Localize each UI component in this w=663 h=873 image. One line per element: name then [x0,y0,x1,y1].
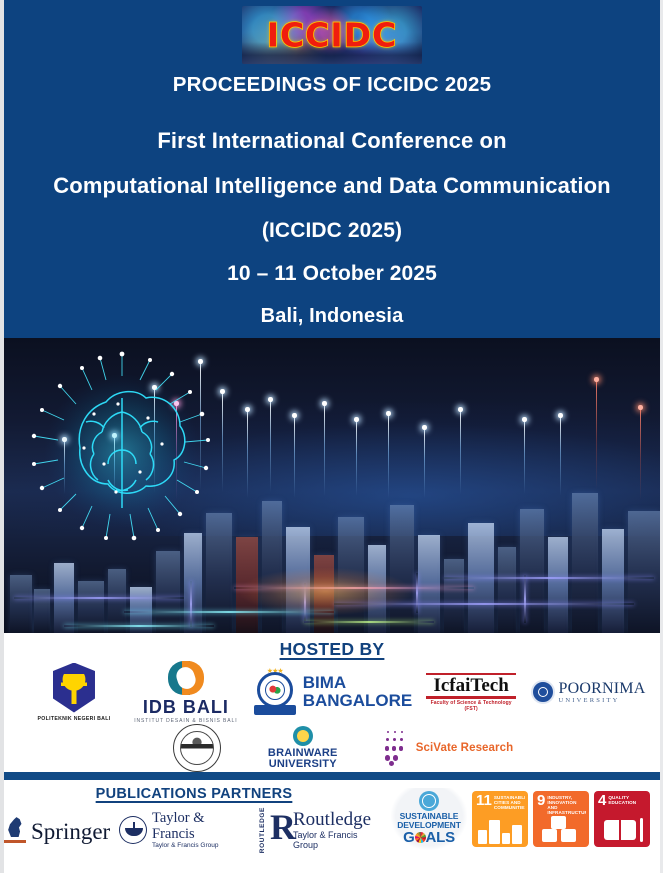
logo-poornima-university[interactable]: POORNIMA UNIVERSITY [530,680,646,704]
logo-brainware-university[interactable]: BRAINWARE UNIVERSITY [255,726,351,770]
poornima-name: POORNIMA [559,681,646,697]
sdg-goal-11-label: SUSTAINABLE CITIES AND COMMUNITIES [494,794,525,810]
sdg-line-3: GALS [391,830,467,845]
building [548,537,568,633]
sdg-color-wheel-icon [415,832,426,843]
routledge-name: Routledge [293,810,384,830]
bima-line-2: BANGALORE [303,692,413,710]
sdg-goal-4-art [594,814,650,844]
light-beam [324,404,325,496]
light-beam [222,392,223,492]
brainware-emblem-icon [293,726,313,746]
logo-university-seal[interactable] [173,724,221,772]
routledge-group: Taylor & Francis Group [293,830,384,850]
poornima-subtitle: UNIVERSITY [559,697,646,704]
sdg-goals-pre: G [403,829,414,846]
sdg-goal-9-number: 9 [537,794,545,808]
building [418,535,440,633]
sdg-goal-9[interactable]: 9 INDUSTRY, INNOVATION AND INFRASTRUCTUR… [533,791,589,847]
idb-name: IDB BALI [134,698,237,716]
logo-bima-bangalore[interactable]: ★★★ BIMA BANGALORE [252,668,413,716]
logo-springer[interactable]: Springer [4,817,110,843]
network-line [190,581,192,627]
poster-header: ICCIDC PROCEEDINGS OF ICCIDC 2025 First … [0,0,663,338]
proceedings-title: PROCEEDINGS OF ICCIDC 2025 [4,73,660,97]
sdg-goal-4-number: 4 [598,794,606,808]
hero-smart-city-image [0,338,663,633]
conference-dates: 10 – 11 October 2025 [4,263,660,284]
conference-line-2: Computational Intelligence and Data Comm… [4,175,660,197]
hosted-by-section: HOSTED BY POLITEKNIK NEGERI BALI IDB BAL… [0,633,663,772]
network-line [444,577,654,579]
idb-subtitle: INSTITUT DESAIN & BISNIS BALI [134,718,237,724]
building [444,559,464,633]
publications-partners-title: PUBLICATIONS PARTNERS [4,786,384,802]
building [602,529,624,633]
network-line [304,621,434,623]
sdg-goal-11-number: 11 [476,794,492,808]
light-beam [388,414,389,498]
light-beam [524,420,525,494]
sdg-goal-9-label: INDUSTRY, INNOVATION AND INFRASTRUCTURE [547,794,586,816]
light-beam [460,410,461,494]
light-beam [424,428,425,498]
logo-scivate-research[interactable]: SciVate Research [385,731,514,765]
un-emblem-icon [419,791,439,811]
icfai-subtitle: Faculty of Science & Technology (FST) [426,700,516,712]
light-beam [294,416,295,498]
routledge-r-icon: R [270,813,289,847]
iccidc-logo-text: ICCIDC [242,16,422,55]
sdg-goal-11[interactable]: 11 SUSTAINABLE CITIES AND COMMUNITIES [472,791,528,847]
taylor-francis-name: Taylor & Francis [152,811,250,841]
icfai-bottom-rule [426,696,516,699]
logo-taylor-and-francis[interactable]: Taylor & Francis Taylor & Francis Group [119,811,250,848]
light-beam [356,420,357,496]
building [628,511,660,633]
politeknik-crest-icon [53,663,95,713]
light-beam [247,410,248,498]
logo-icfaitech[interactable]: IcfaiTech Faculty of Science & Technolog… [426,673,516,712]
politeknik-caption: POLITEKNIK NEGERI BALI [38,716,111,722]
idb-swoosh-icon [168,661,204,695]
conference-location: Bali, Indonesia [4,306,660,326]
network-line [14,597,184,599]
logo-politeknik-negeri-bali[interactable]: POLITEKNIK NEGERI BALI [28,663,120,722]
conference-poster: ICCIDC PROCEEDINGS OF ICCIDC 2025 First … [0,0,663,873]
building [10,575,32,633]
sdg-goal-4[interactable]: 4 QUALITY EDUCATION [594,791,650,847]
scivate-dots-icon [385,731,411,765]
logo-routledge[interactable]: ROUTLEDGE R Routledge Taylor & Francis G… [259,807,384,853]
conference-line-1: First International Conference on [4,130,660,152]
taylor-francis-boat-icon [119,816,147,844]
sdg-block: SUSTAINABLE DEVELOPMENT GALS 11 SUSTAINA… [391,788,650,850]
bima-seal-icon: ★★★ [252,668,298,716]
network-line [524,575,526,623]
bima-line-1: BIMA [303,674,413,692]
springer-name: Springer [31,821,110,843]
building [34,589,50,633]
iccidc-logo-badge: ICCIDC [242,6,422,64]
publications-partners-logos: Springer Taylor & Francis Taylor & Franc… [4,807,384,853]
hosted-by-title: HOSTED BY [4,639,660,660]
scivate-name: SciVate Research [416,742,514,754]
brainware-line-2: UNIVERSITY [268,759,338,770]
building [572,493,598,633]
springer-knight-icon [4,817,26,843]
building [108,569,126,633]
sdg-goals-post: ALS [426,829,455,846]
brain-icon [22,352,222,552]
hosted-by-logo-row-1: POLITEKNIK NEGERI BALI IDB BALI INSTITUT… [4,660,660,722]
light-beam [560,416,561,496]
sdg-goal-9-art [533,814,589,844]
poornima-emblem-icon [531,680,555,704]
hosted-by-logo-row-2: BRAINWARE UNIVERSITY [4,722,660,774]
taylor-francis-group: Taylor & Francis Group [152,842,250,849]
light-beam [270,400,271,492]
publications-partners-left: PUBLICATIONS PARTNERS Springer Taylor & … [4,786,384,853]
sdg-goal-11-art [472,814,528,844]
logo-idb-bali[interactable]: IDB BALI INSTITUT DESAIN & BISNIS BALI [134,661,238,724]
routledge-vertical-label: ROUTLEDGE [259,807,266,853]
neural-brain-hologram [22,352,222,552]
conference-acronym-line: (ICCIDC 2025) [4,220,660,241]
light-beam [640,408,641,500]
sdg-goal-4-label: QUALITY EDUCATION [608,794,647,805]
sdg-main-logo: SUSTAINABLE DEVELOPMENT GALS [391,788,467,850]
icfai-name: IcfaiTech [426,676,516,695]
building [498,547,516,633]
light-beam [596,380,597,490]
network-line [416,573,418,613]
university-seal-icon [173,724,221,772]
street-light-glow [240,568,411,615]
publications-partners-section: PUBLICATIONS PARTNERS Springer Taylor & … [0,780,663,873]
building [156,551,180,633]
